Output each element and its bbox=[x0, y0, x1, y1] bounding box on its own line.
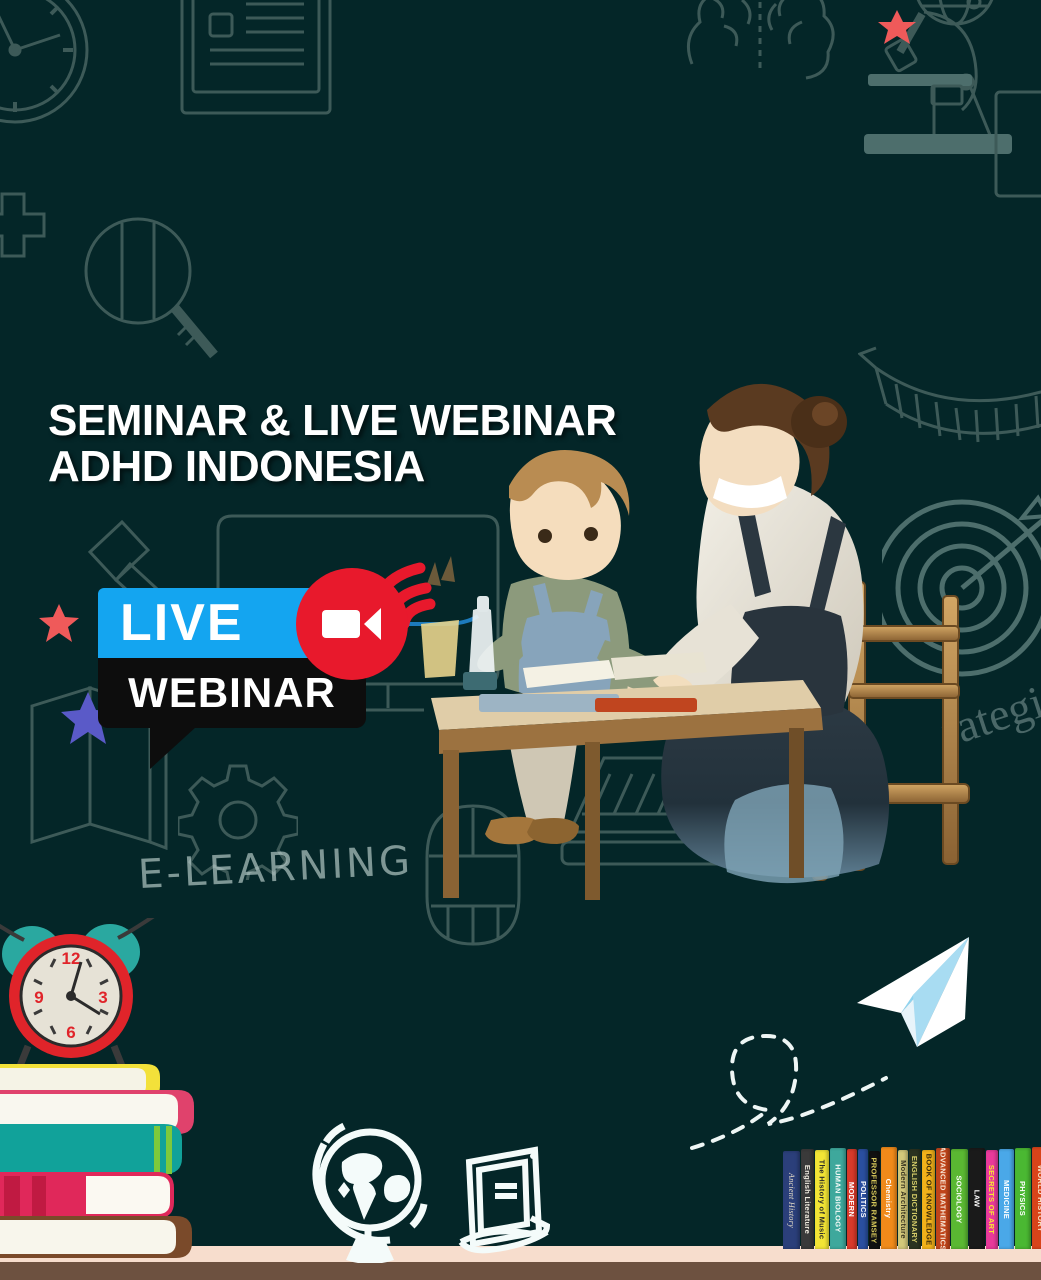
bookshelf-row: Ancient HistoryEnglish LiteratureThe His… bbox=[783, 1148, 1041, 1249]
book-spine-title: BOOK OF KNOWLEDGE bbox=[924, 1154, 933, 1246]
book-spine-title: SECRETS OF ART bbox=[988, 1165, 997, 1234]
svg-text:3: 3 bbox=[98, 988, 107, 1007]
brain-doodle bbox=[672, 0, 862, 84]
book-spine: LAW bbox=[969, 1148, 985, 1249]
book-spine-title: MODERN bbox=[848, 1181, 857, 1216]
video-camera-icon bbox=[321, 603, 383, 645]
panel-doodle bbox=[990, 86, 1041, 206]
book-spine: PROFESSOR RAMSEY bbox=[869, 1151, 880, 1249]
book-spine: Ancient History bbox=[783, 1151, 800, 1249]
book-spine-title: ADVANCED MATHEMATICS bbox=[939, 1148, 948, 1249]
book-spine: POLITICS bbox=[858, 1149, 868, 1249]
book-spine: WORLD HISTORY bbox=[1032, 1147, 1041, 1249]
book-spine: ENGLISH DICTIONARY bbox=[909, 1149, 921, 1249]
book-spine-title: Modern Architecture bbox=[899, 1160, 908, 1239]
book-spine: Chemistry bbox=[881, 1147, 897, 1249]
book-stack bbox=[0, 1064, 194, 1258]
book-spine: MODERN bbox=[847, 1149, 857, 1249]
book-spine: MEDICINE bbox=[999, 1149, 1014, 1249]
paper-plane-icon bbox=[855, 935, 975, 1055]
book-spine: ADVANCED MATHEMATICS bbox=[936, 1148, 950, 1249]
book-spine-title: The History of Music bbox=[818, 1160, 827, 1240]
book-spine-title: Ancient History bbox=[787, 1173, 796, 1228]
milk-bottle bbox=[469, 608, 495, 679]
clock-doodle bbox=[0, 0, 130, 160]
book-spine-title: English Literature bbox=[803, 1164, 812, 1233]
book-spine-title: ENGLISH DICTIONARY bbox=[911, 1155, 920, 1242]
child-eye-right bbox=[584, 527, 598, 541]
svg-text:9: 9 bbox=[34, 988, 43, 1007]
book-spine: SOCIOLOGY bbox=[951, 1149, 968, 1249]
book-spine-title: HUMAN BIOLOGY bbox=[834, 1164, 843, 1232]
book-spine-title: SOCIOLOGY bbox=[955, 1175, 964, 1223]
magnifier-doodle bbox=[82, 215, 232, 375]
globe-chalk-icon bbox=[300, 1118, 440, 1268]
book-spine-title: PROFESSOR RAMSEY bbox=[870, 1157, 879, 1243]
book-spine-title: Chemistry bbox=[885, 1178, 894, 1217]
book-spine: PHYSICS bbox=[1015, 1148, 1031, 1249]
book-spine: SECRETS OF ART bbox=[986, 1150, 998, 1249]
ink-pot bbox=[463, 672, 497, 690]
book-spine: BOOK OF KNOWLEDGE bbox=[922, 1150, 935, 1249]
book-spine-title: WORLD HISTORY bbox=[1037, 1164, 1041, 1231]
small-globe-doodle bbox=[900, 0, 1010, 54]
webinar-label: WEBINAR bbox=[128, 672, 336, 714]
book-spine: HUMAN BIOLOGY bbox=[830, 1148, 846, 1249]
live-webinar-badge[interactable]: LIVE WEBINAR bbox=[98, 588, 366, 728]
tablet-book-chalk-icon bbox=[443, 1140, 563, 1263]
plus-doodle bbox=[0, 190, 48, 260]
webinar-poster: rategi E-LEARNING bbox=[0, 0, 1041, 1280]
book-spine-title: PHYSICS bbox=[1019, 1181, 1028, 1216]
book-spine-title: MEDICINE bbox=[1002, 1179, 1011, 1218]
bubble-tail bbox=[150, 727, 196, 769]
title-line-2: ADHD INDONESIA bbox=[48, 444, 616, 490]
live-label: LIVE bbox=[120, 597, 244, 649]
book-spine: English Literature bbox=[801, 1149, 814, 1249]
svg-text:6: 6 bbox=[66, 1023, 75, 1042]
star-red-icon bbox=[38, 602, 80, 649]
book-spine-title: LAW bbox=[973, 1190, 982, 1208]
book-spine: Modern Architecture bbox=[898, 1150, 908, 1249]
book-spine-title: POLITICS bbox=[859, 1181, 868, 1218]
book-spine: The History of Music bbox=[815, 1150, 829, 1249]
book-closed-red bbox=[595, 698, 697, 712]
title-line-1: SEMINAR & LIVE WEBINAR bbox=[48, 398, 616, 444]
child-eye-left bbox=[538, 529, 552, 543]
clock-and-book-stack: 12 3 6 9 bbox=[0, 918, 258, 1280]
record-circle[interactable] bbox=[296, 568, 408, 680]
svg-text:12: 12 bbox=[62, 949, 81, 968]
globe-landmass bbox=[342, 1153, 383, 1184]
page-title: SEMINAR & LIVE WEBINAR ADHD INDONESIA bbox=[48, 398, 616, 490]
clipboard-doodle bbox=[176, 0, 336, 122]
